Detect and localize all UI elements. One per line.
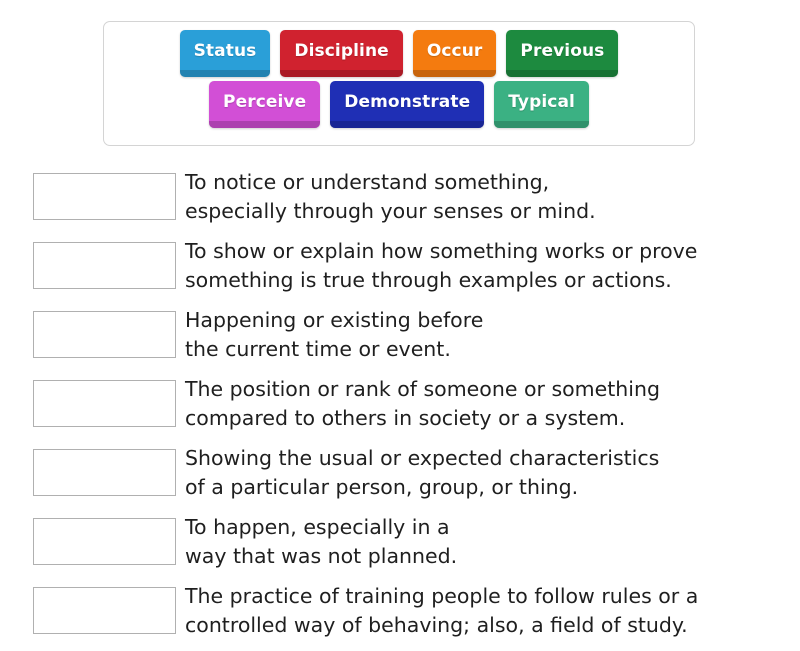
definition-text-6: To happen, especially in a way that was … xyxy=(185,513,457,571)
answer-row: The practice of training people to follo… xyxy=(33,582,778,640)
word-tile-perceive[interactable]: Perceive xyxy=(209,81,320,128)
definition-text-3: Happening or existing before the current… xyxy=(185,306,483,364)
word-bank-row-1: StatusDisciplineOccurPrevious xyxy=(104,30,694,77)
definition-text-5: Showing the usual or expected characteri… xyxy=(185,444,659,502)
definition-text-1: To notice or understand something, espec… xyxy=(185,168,596,226)
word-tile-occur[interactable]: Occur xyxy=(413,30,497,77)
word-tile-typical[interactable]: Typical xyxy=(494,81,589,128)
answer-drop-box-1[interactable] xyxy=(33,173,176,220)
definition-text-2: To show or explain how something works o… xyxy=(185,237,697,295)
word-tile-status[interactable]: Status xyxy=(180,30,271,77)
word-tile-label: Occur xyxy=(427,43,483,60)
word-tile-label: Status xyxy=(194,43,257,60)
word-tile-discipline[interactable]: Discipline xyxy=(280,30,402,77)
answer-drop-box-2[interactable] xyxy=(33,242,176,289)
word-bank-row-2: PerceiveDemonstrateTypical xyxy=(104,81,694,128)
answer-row: The position or rank of someone or somet… xyxy=(33,375,778,433)
answer-row: Showing the usual or expected characteri… xyxy=(33,444,778,502)
answer-drop-box-6[interactable] xyxy=(33,518,176,565)
word-tile-previous[interactable]: Previous xyxy=(506,30,618,77)
word-bank-panel: StatusDisciplineOccurPrevious PerceiveDe… xyxy=(103,21,695,146)
word-tile-label: Previous xyxy=(520,43,604,60)
word-tile-label: Perceive xyxy=(223,94,306,111)
answer-drop-box-7[interactable] xyxy=(33,587,176,634)
answer-row: To notice or understand something, espec… xyxy=(33,168,778,226)
answer-list: To notice or understand something, espec… xyxy=(33,168,778,651)
word-tile-label: Typical xyxy=(508,94,575,111)
word-tile-demonstrate[interactable]: Demonstrate xyxy=(330,81,484,128)
answer-row: Happening or existing before the current… xyxy=(33,306,778,364)
answer-drop-box-4[interactable] xyxy=(33,380,176,427)
definition-text-4: The position or rank of someone or somet… xyxy=(185,375,660,433)
word-tile-label: Demonstrate xyxy=(344,94,470,111)
answer-drop-box-3[interactable] xyxy=(33,311,176,358)
answer-drop-box-5[interactable] xyxy=(33,449,176,496)
word-tile-label: Discipline xyxy=(294,43,388,60)
answer-row: To show or explain how something works o… xyxy=(33,237,778,295)
definition-text-7: The practice of training people to follo… xyxy=(185,582,698,640)
answer-row: To happen, especially in a way that was … xyxy=(33,513,778,571)
